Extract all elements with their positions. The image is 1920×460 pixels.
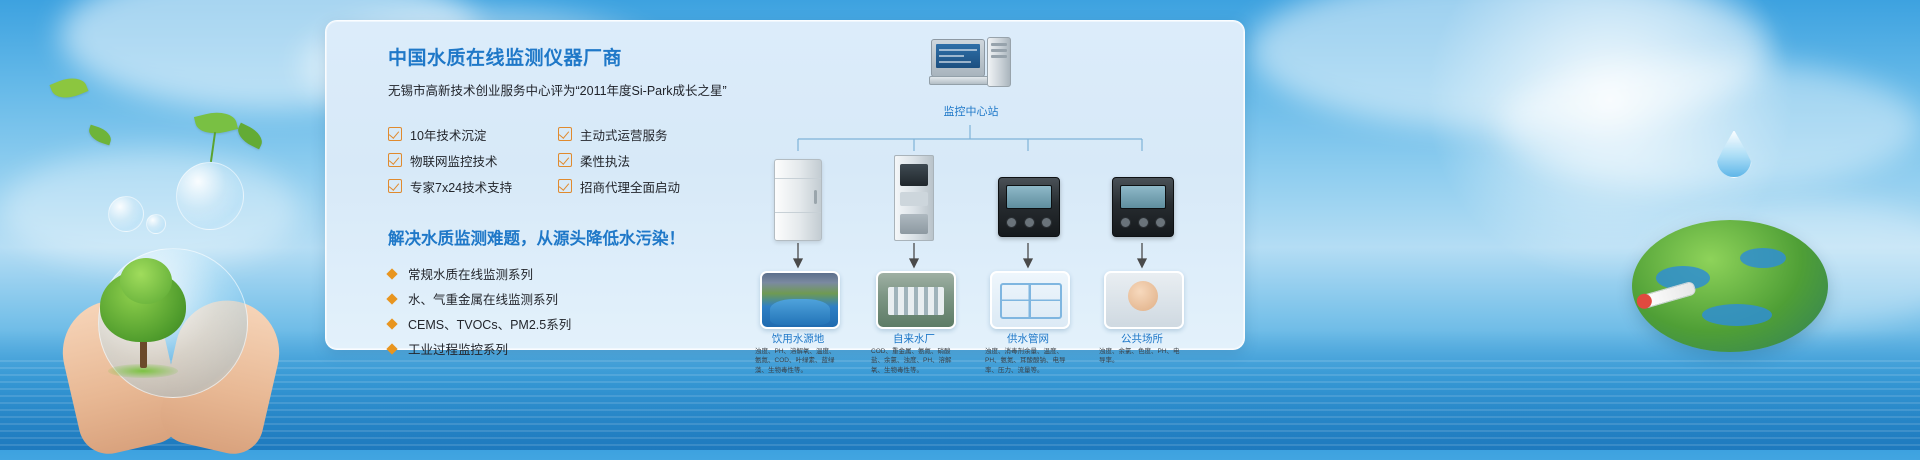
tree-foliage xyxy=(120,258,172,304)
sea-patch xyxy=(1702,304,1772,326)
scenario-label: 公共场所 xyxy=(1082,331,1202,346)
diamond-bullet-icon xyxy=(386,343,397,354)
feature-label: 10年技术沉淀 xyxy=(410,125,486,144)
page-subtitle: 无锡市高新技术创业服务中心评为“2011年度Si-Park成长之星” xyxy=(388,80,748,99)
scenario-label: 饮用水源地 xyxy=(738,331,858,346)
lcd-display xyxy=(1006,185,1052,209)
feature-item: 主动式运营服务 xyxy=(558,121,728,147)
control-button[interactable] xyxy=(1006,217,1017,228)
lcd-display xyxy=(1120,185,1166,209)
solution-label: 常规水质在线监测系列 xyxy=(408,264,533,283)
scenario-detail: 浊度、消毒剂余量、温度、PH、氨氮、耳酸酸钠、电导率、压力、流量等。 xyxy=(985,347,1071,375)
button-row xyxy=(1006,214,1052,230)
device-analyzer-cabinet xyxy=(882,153,946,239)
feature-item: 柔性执法 xyxy=(558,147,728,173)
control-button[interactable] xyxy=(1120,217,1131,228)
feature-list: 10年技术沉淀 主动式运营服务 物联网监控技术 柔性执法 专家7x24技术支持 … xyxy=(388,121,728,199)
scenario-label: 自来水厂 xyxy=(854,331,974,346)
feature-label: 专家7x24技术支持 xyxy=(410,177,512,196)
solution-heading: 解决水质监测难题，从源头降低水污染！ xyxy=(388,225,748,249)
list-item[interactable]: 工业过程监控系列 xyxy=(388,336,748,361)
checkbox-icon xyxy=(558,179,572,193)
control-button[interactable] xyxy=(1155,217,1166,228)
bubble-decoration xyxy=(146,214,166,234)
green-earth-illustration xyxy=(1632,220,1828,352)
feature-label: 物联网监控技术 xyxy=(410,151,498,170)
cabinet-window xyxy=(900,164,928,186)
bubble-decoration xyxy=(108,196,144,232)
list-item[interactable]: 水、气重金属在线监测系列 xyxy=(388,286,748,311)
diamond-bullet-icon xyxy=(386,318,397,329)
checkbox-icon xyxy=(388,153,402,167)
scenario-thumbnail-pipeline[interactable] xyxy=(990,271,1070,329)
list-item[interactable]: 常规水质在线监测系列 xyxy=(388,261,748,286)
control-button[interactable] xyxy=(1138,217,1149,228)
device-controller-1 xyxy=(996,163,1060,249)
feature-item: 专家7x24技术支持 xyxy=(388,173,558,199)
controller-body xyxy=(998,177,1060,237)
leaf-icon xyxy=(234,123,266,150)
scenario-thumbnail-reservoir[interactable] xyxy=(760,271,840,329)
diamond-bullet-icon xyxy=(386,268,397,279)
scenario-label: 供水管网 xyxy=(968,331,1088,346)
scenario-thumbnail-public[interactable] xyxy=(1104,271,1184,329)
cabinet-body xyxy=(774,159,822,241)
scenario-thumbnail-waterworks[interactable] xyxy=(876,271,956,329)
cloud-decoration xyxy=(1500,60,1920,190)
device-controller-2 xyxy=(1110,163,1174,249)
leaf-icon xyxy=(194,107,238,138)
sea-patch xyxy=(1740,248,1786,268)
cabinet-panel xyxy=(900,192,928,206)
feature-label: 主动式运营服务 xyxy=(580,125,668,144)
checkbox-icon xyxy=(388,127,402,141)
water-shimmer xyxy=(0,360,1920,450)
cabinet-body xyxy=(894,155,934,241)
scenario-detail: 浊度、PH、溶解氧、温度、氨氮、COD、叶绿素、蓝绿藻、生物毒性等。 xyxy=(755,347,841,375)
scenario-detail: 浊度、余氯、色度、PH、电导率。 xyxy=(1099,347,1185,366)
diamond-bullet-icon xyxy=(386,293,397,304)
cabinet-base xyxy=(900,214,928,234)
checkbox-icon xyxy=(388,179,402,193)
feature-item: 物联网监控技术 xyxy=(388,147,558,173)
button-row xyxy=(1120,214,1166,230)
solution-label: CEMS、TVOCs、PM2.5系列 xyxy=(408,314,571,333)
device-water-cabinet xyxy=(766,153,830,239)
checkbox-icon xyxy=(558,153,572,167)
solution-label: 水、气重金属在线监测系列 xyxy=(408,289,558,308)
bubble-decoration xyxy=(176,162,244,230)
scenario-detail: COD、重金属、氨氮、硝酸盐、余氯、浊度、PH、溶解氧、生物毒性等。 xyxy=(871,347,957,375)
controller-body xyxy=(1112,177,1174,237)
page-title: 中国水质在线监测仪器厂商 xyxy=(388,43,748,70)
solution-list: 常规水质在线监测系列 水、气重金属在线监测系列 CEMS、TVOCs、PM2.5… xyxy=(388,261,748,361)
feature-label: 柔性执法 xyxy=(580,151,630,170)
feature-item: 10年技术沉淀 xyxy=(388,121,558,147)
banner-card: 中国水质在线监测仪器厂商 无锡市高新技术创业服务中心评为“2011年度Si-Pa… xyxy=(325,20,1245,350)
feature-label: 招商代理全面启动 xyxy=(580,177,680,196)
leaf-icon xyxy=(86,125,113,146)
control-button[interactable] xyxy=(1041,217,1052,228)
checkbox-icon xyxy=(558,127,572,141)
monitoring-topology-diagram: 监控中心站 xyxy=(756,35,1226,345)
control-button[interactable] xyxy=(1024,217,1035,228)
solution-label: 工业过程监控系列 xyxy=(408,339,508,358)
list-item[interactable]: CEMS、TVOCs、PM2.5系列 xyxy=(388,311,748,336)
leaf-icon xyxy=(49,72,88,103)
hands-holding-tree-illustration xyxy=(68,252,274,450)
feature-item: 招商代理全面启动 xyxy=(558,173,728,199)
banner-text-pane: 中国水质在线监测仪器厂商 无锡市高新技术创业服务中心评为“2011年度Si-Pa… xyxy=(388,43,748,361)
